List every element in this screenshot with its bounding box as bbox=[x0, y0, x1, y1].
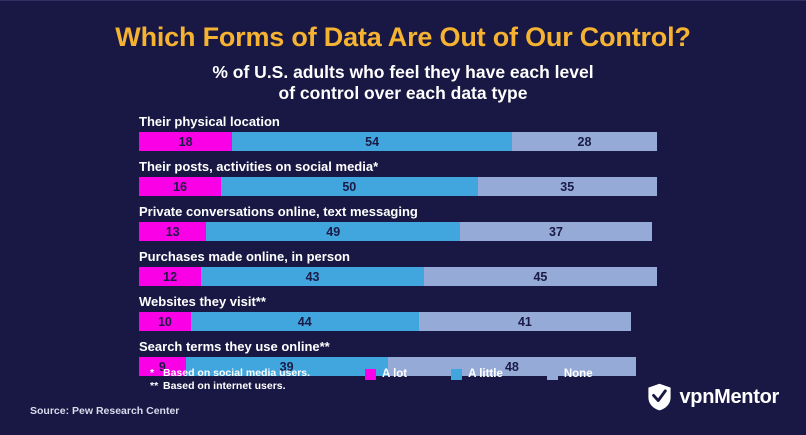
footnote-text: Based on internet users. bbox=[163, 380, 286, 392]
logo-wordmark: vpnMentor bbox=[679, 386, 779, 409]
stacked-bar: 124345 bbox=[139, 267, 657, 286]
subtitle-line-2: of control over each data type bbox=[0, 83, 806, 104]
chart-legend: A lotA littleNone bbox=[365, 367, 593, 380]
bar-segment-none: 37 bbox=[460, 222, 652, 241]
footnotes: *Based on social media users.**Based on … bbox=[150, 367, 365, 393]
chart-row: Websites they visit**104441 bbox=[139, 294, 657, 331]
chart-row-label: Search terms they use online** bbox=[139, 339, 657, 354]
bar-segment-a-lot: 13 bbox=[139, 222, 206, 241]
bar-segment-a-little: 43 bbox=[201, 267, 424, 286]
chart-row-label: Purchases made online, in person bbox=[139, 249, 657, 264]
shield-check-icon bbox=[647, 383, 672, 411]
page-subtitle: % of U.S. adults who feel they have each… bbox=[0, 62, 806, 104]
header: Which Forms of Data Are Out of Our Contr… bbox=[0, 1, 806, 104]
chart-row-label: Private conversations online, text messa… bbox=[139, 204, 657, 219]
bar-segment-a-lot: 16 bbox=[139, 177, 221, 196]
footnote-marker: ** bbox=[150, 380, 163, 393]
chart-row-label: Their physical location bbox=[139, 114, 657, 129]
legend-swatch-icon bbox=[547, 369, 558, 380]
bar-segment-none: 41 bbox=[419, 312, 631, 331]
footnote: **Based on internet users. bbox=[150, 380, 365, 393]
bar-segment-none: 45 bbox=[424, 267, 657, 286]
bar-segment-none: 35 bbox=[478, 177, 658, 196]
legend-label: A lot bbox=[382, 368, 407, 380]
legend-label: A little bbox=[468, 368, 503, 380]
bar-segment-a-little: 49 bbox=[206, 222, 460, 241]
bar-segment-a-lot: 10 bbox=[139, 312, 191, 331]
stacked-bar: 185428 bbox=[139, 132, 657, 151]
footnote-marker: * bbox=[150, 367, 163, 380]
page-title: Which Forms of Data Are Out of Our Contr… bbox=[0, 23, 806, 53]
legend-item: A lot bbox=[365, 368, 407, 380]
legend-swatch-icon bbox=[451, 369, 462, 380]
stacked-bar: 165035 bbox=[139, 177, 657, 196]
footnote: *Based on social media users. bbox=[150, 367, 365, 380]
bar-segment-a-little: 50 bbox=[221, 177, 477, 196]
chart-row-label: Websites they visit** bbox=[139, 294, 657, 309]
vpnmentor-logo[interactable]: vpnMentor bbox=[647, 383, 779, 411]
chart-row: Their physical location185428 bbox=[139, 114, 657, 151]
chart-row-label: Their posts, activities on social media* bbox=[139, 159, 657, 174]
bar-segment-a-little: 44 bbox=[191, 312, 419, 331]
chart-row: Purchases made online, in person124345 bbox=[139, 249, 657, 286]
legend-swatch-icon bbox=[365, 369, 376, 380]
source-note: Source: Pew Research Center bbox=[30, 405, 179, 417]
legend-label: None bbox=[564, 368, 593, 380]
stacked-bar-chart: Their physical location185428Their posts… bbox=[139, 114, 657, 384]
bar-segment-a-lot: 18 bbox=[139, 132, 232, 151]
stacked-bar: 134937 bbox=[139, 222, 657, 241]
legend-item: None bbox=[547, 368, 593, 380]
subtitle-line-1: % of U.S. adults who feel they have each… bbox=[0, 62, 806, 83]
chart-row: Private conversations online, text messa… bbox=[139, 204, 657, 241]
footnote-text: Based on social media users. bbox=[163, 367, 310, 379]
chart-footer: *Based on social media users.**Based on … bbox=[150, 367, 670, 393]
chart-row: Their posts, activities on social media*… bbox=[139, 159, 657, 196]
infographic-canvas: Which Forms of Data Are Out of Our Contr… bbox=[0, 0, 806, 435]
bar-segment-a-little: 54 bbox=[232, 132, 512, 151]
stacked-bar: 104441 bbox=[139, 312, 657, 331]
bar-segment-none: 28 bbox=[512, 132, 657, 151]
legend-item: A little bbox=[451, 368, 503, 380]
bar-segment-a-lot: 12 bbox=[139, 267, 201, 286]
